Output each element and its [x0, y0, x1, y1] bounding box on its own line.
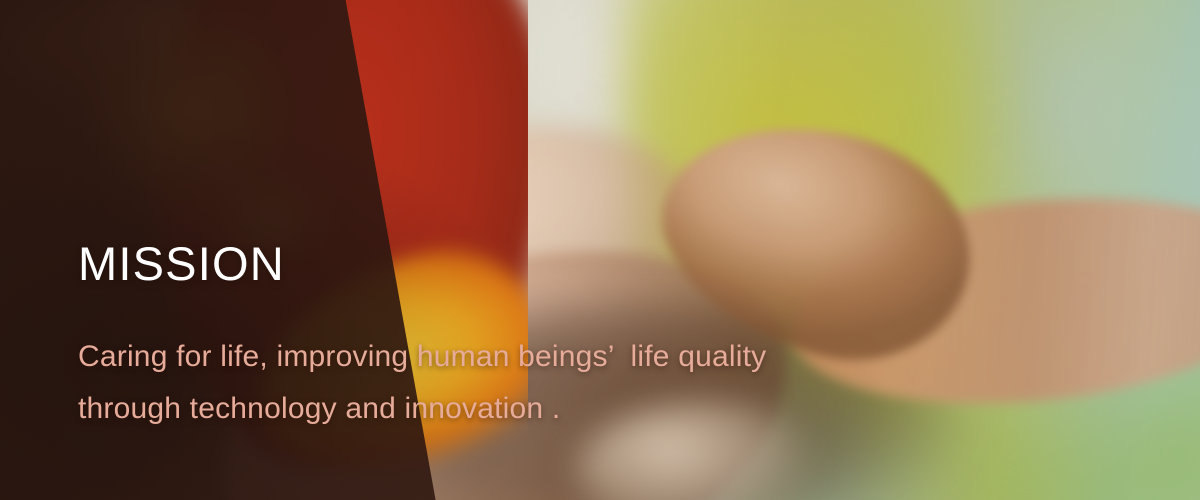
- mission-statement-line-1: Caring for life, improving human beings’…: [78, 331, 978, 383]
- mission-hero-banner: MISSION Caring for life, improving human…: [0, 0, 1200, 500]
- mission-statement: Caring for life, improving human beings’…: [78, 287, 978, 434]
- mission-statement-line-2: through technology and innovation .: [78, 383, 978, 435]
- page-title: MISSION: [78, 240, 978, 287]
- hero-text-block: MISSION Caring for life, improving human…: [78, 240, 978, 434]
